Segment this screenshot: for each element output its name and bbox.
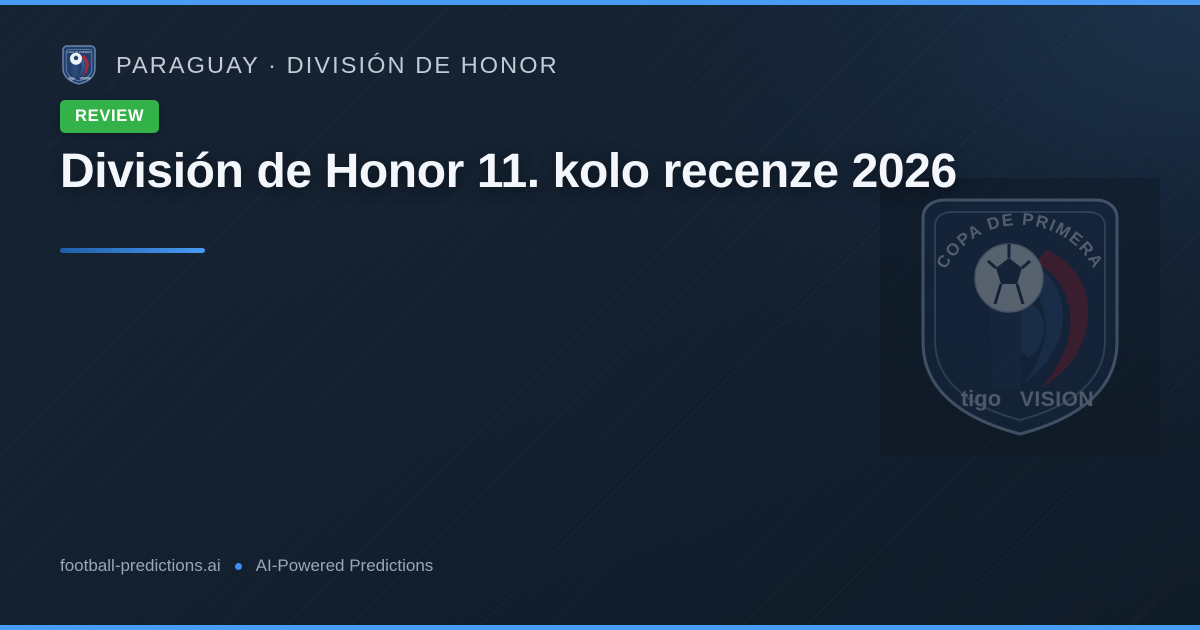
breadcrumb-label: PARAGUAY · DIVISIÓN DE HONOR [116,52,559,79]
share-card: COPA DE PRIMERA tigo [0,0,1200,630]
site-name: football-predictions.ai [60,556,221,576]
footer: football-predictions.ai AI-Powered Predi… [60,556,433,576]
breadcrumb: COPA DE PRIMERA tigo VISION PARAGUAY · D… [60,44,559,86]
bottom-accent-bar [0,625,1200,630]
svg-text:tigo: tigo [69,77,75,81]
title-underline-accent [60,248,205,253]
footer-tagline: AI-Powered Predictions [256,556,434,576]
svg-text:COPA DE PRIMERA: COPA DE PRIMERA [67,50,91,54]
page-title: División de Honor 11. kolo recenze 2026 [60,142,1070,202]
bullet-dot-icon [235,563,242,570]
card-content: COPA DE PRIMERA tigo VISION PARAGUAY · D… [60,0,1140,630]
svg-text:VISION: VISION [80,77,92,81]
paraguay-league-crest-icon: COPA DE PRIMERA tigo VISION [60,44,98,86]
status-badge: REVIEW [60,100,159,133]
